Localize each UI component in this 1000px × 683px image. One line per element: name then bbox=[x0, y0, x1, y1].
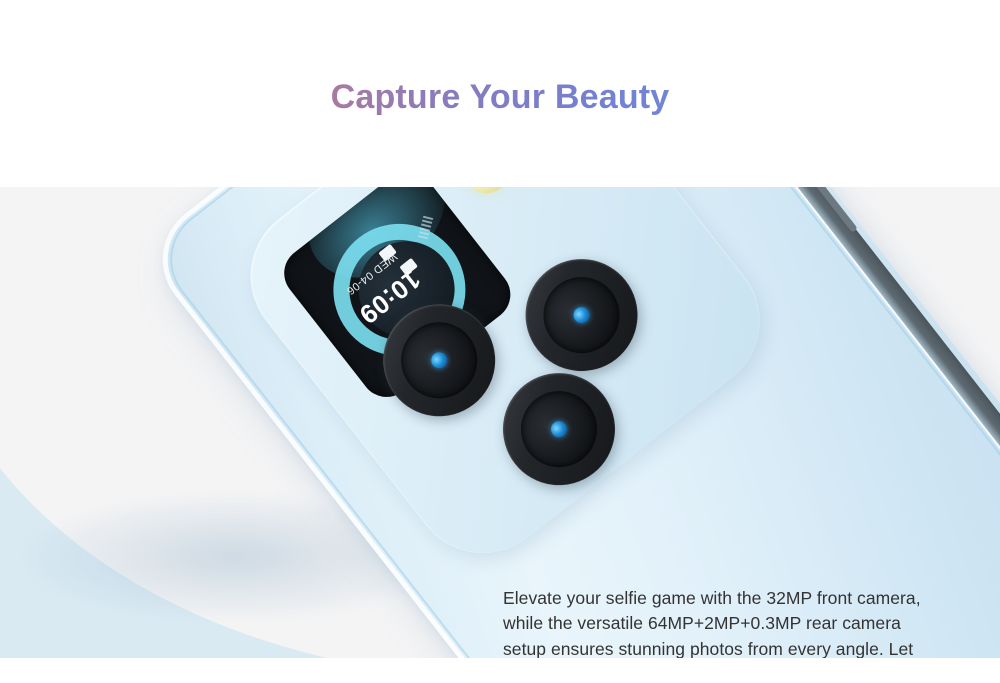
promo-banner: Capture Your Beauty bbox=[0, 0, 1000, 683]
header-band: Capture Your Beauty bbox=[0, 0, 1000, 187]
feature-description: Elevate your selfie game with the 32MP f… bbox=[503, 586, 933, 658]
hero-stage: WED 04-06 10:09 bbox=[0, 187, 1000, 658]
footer-strip bbox=[0, 658, 1000, 683]
page-title: Capture Your Beauty bbox=[0, 78, 1000, 117]
